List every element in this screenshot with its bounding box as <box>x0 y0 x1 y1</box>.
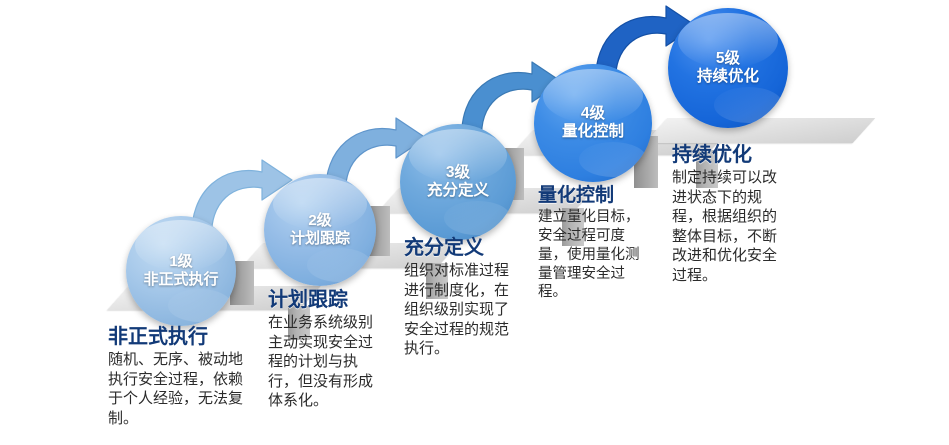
caption-heading: 持续优化 <box>672 138 790 167</box>
level-node-label: 1级 非正式执行 <box>143 253 218 288</box>
caption-body: 制定持续可以改进状态下的规程，根据组织的整体目标，不断改进和优化安全过程。 <box>672 168 790 285</box>
level-node-label: 4级 量化控制 <box>562 105 624 142</box>
maturity-model-diagram: 1级 非正式执行 2级 计划跟踪 3级 充分定义 4级 量化控制 5级 持续 <box>0 0 949 445</box>
level-name: 计划跟踪 <box>290 230 350 248</box>
caption-level-3: 充分定义 组织对标准过程进行制度化，在组织级别实现了安全过程的规范执行。 <box>404 231 522 359</box>
caption-body: 组织对标准过程进行制度化，在组织级别实现了安全过程的规范执行。 <box>404 261 522 359</box>
level-name: 充分定义 <box>427 182 489 200</box>
caption-heading: 充分定义 <box>404 231 522 260</box>
caption-heading: 非正式执行 <box>108 320 246 349</box>
caption-level-2: 计划跟踪 在业务系统级别主动实现安全过程的计划与执行，但没有形成体系化。 <box>268 283 386 411</box>
level-node-label: 2级 计划跟踪 <box>290 212 350 247</box>
level-node-1[interactable]: 1级 非正式执行 <box>126 216 236 326</box>
level-name: 非正式执行 <box>143 271 218 289</box>
caption-level-5: 持续优化 制定持续可以改进状态下的规程，根据组织的整体目标，不断改进和优化安全过… <box>672 138 790 285</box>
level-node-5[interactable]: 5级 持续优化 <box>668 8 788 128</box>
caption-body: 在业务系统级别主动实现安全过程的计划与执行，但没有形成体系化。 <box>268 313 386 411</box>
level-node-2[interactable]: 2级 计划跟踪 <box>264 174 376 286</box>
caption-level-4: 量化控制 建立量化目标，安全过程可度量，使用量化测量管理安全过程。 <box>538 180 650 302</box>
caption-level-1: 非正式执行 随机、无序、被动地执行安全过程，依赖于个人经验，无法复制。 <box>108 320 246 428</box>
level-number: 3级 <box>427 164 489 182</box>
level-node-label: 5级 持续优化 <box>697 50 759 87</box>
level-name: 持续优化 <box>697 68 759 86</box>
level-name: 量化控制 <box>562 123 624 141</box>
caption-body: 随机、无序、被动地执行安全过程，依赖于个人经验，无法复制。 <box>108 350 246 428</box>
level-node-3[interactable]: 3级 充分定义 <box>400 124 516 240</box>
level-number: 1级 <box>143 253 218 271</box>
caption-heading: 量化控制 <box>538 180 650 207</box>
level-number: 5级 <box>697 50 759 68</box>
level-node-4[interactable]: 4级 量化控制 <box>534 64 652 182</box>
level-number: 2级 <box>290 212 350 230</box>
level-node-label: 3级 充分定义 <box>427 164 489 201</box>
level-number: 4级 <box>562 105 624 123</box>
caption-body: 建立量化目标，安全过程可度量，使用量化测量管理安全过程。 <box>538 208 650 302</box>
caption-heading: 计划跟踪 <box>268 283 386 312</box>
